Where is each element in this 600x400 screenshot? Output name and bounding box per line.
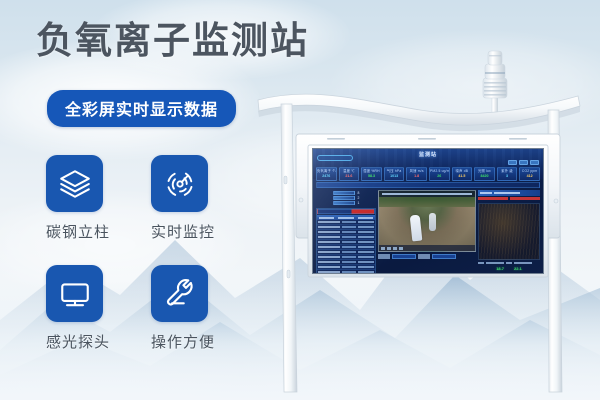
- feature-label: 操作方便: [151, 331, 256, 352]
- mini-stat-label: [333, 196, 355, 200]
- feature-item-0[interactable]: 碳钢立柱: [46, 155, 151, 265]
- wrench-icon: [163, 277, 197, 311]
- kpi-card: PM2.5 ug/m³26: [429, 167, 450, 181]
- cell-value: [358, 226, 374, 228]
- legend-dot: [506, 262, 512, 264]
- cell-time: [318, 266, 340, 268]
- feature-item-3[interactable]: 操作方便: [151, 265, 256, 375]
- table-alert-banner: [317, 209, 375, 214]
- feed-person: [409, 215, 422, 242]
- feed-person: [429, 213, 436, 231]
- feature-label: 感光探头: [46, 331, 151, 352]
- mini-stat: 1: [333, 201, 360, 205]
- cell-time: [318, 226, 340, 228]
- weather-sensor: [483, 51, 507, 113]
- cell-time: [318, 241, 340, 243]
- cell-type: [342, 241, 356, 243]
- feature-tile[interactable]: [46, 265, 103, 322]
- kpi-card: CO2 ppm412: [519, 167, 540, 181]
- feature-item-2[interactable]: 感光探头: [46, 265, 151, 375]
- legend-label: [514, 262, 532, 264]
- feature-tile[interactable]: [151, 155, 208, 212]
- curved-canopy: [258, 94, 580, 131]
- alert-badge: [478, 197, 508, 200]
- alert-badge: [510, 197, 540, 200]
- play-icon[interactable]: [381, 247, 385, 250]
- mini-stat: 8: [333, 191, 360, 195]
- control-select[interactable]: [392, 254, 416, 259]
- cell-value: [358, 256, 374, 258]
- kpi-card: 紫外 级3: [497, 167, 518, 181]
- cell-value: [358, 221, 374, 223]
- cell-type: [342, 246, 356, 248]
- mini-stat-label: [333, 201, 355, 205]
- kpi-value: 21.6: [340, 174, 359, 179]
- banner-stage: 监测站 负氧离子 个/cm³2476温度 ℃21.6湿度 %RH58.3气压 h…: [0, 0, 600, 400]
- cell-value: [358, 261, 374, 263]
- screen-middle-column: [378, 190, 476, 271]
- data-table[interactable]: [316, 208, 376, 274]
- screen-toolbar[interactable]: [316, 182, 540, 188]
- cell-value: [358, 241, 374, 243]
- column-header: [358, 217, 373, 219]
- kpi-value: 1013: [385, 174, 404, 179]
- logo-block: [530, 160, 539, 165]
- mini-stats-group: 821: [316, 190, 376, 205]
- footer-values: 18.722.1: [478, 266, 540, 271]
- kpi-card: 光照 lux8420: [474, 167, 495, 181]
- screen-body: 821: [316, 190, 540, 271]
- kpi-card: 湿度 %RH58.3: [361, 167, 382, 181]
- feed-caption-text: [382, 193, 472, 195]
- feed-controls[interactable]: [379, 245, 475, 251]
- cell-type: [342, 271, 356, 273]
- cell-value: [358, 246, 374, 248]
- feature-tile[interactable]: [151, 265, 208, 322]
- legend-label: [486, 262, 504, 264]
- kpi-card: 噪声 dB41.5: [452, 167, 473, 181]
- cell-time: [318, 246, 340, 248]
- control-label: [418, 254, 430, 259]
- footer-value: 18.7: [496, 266, 504, 271]
- fullscreen-icon[interactable]: [399, 247, 403, 250]
- kpi-value: 412: [520, 174, 539, 179]
- cell-value: [358, 271, 374, 273]
- terrain-map[interactable]: [478, 203, 540, 260]
- middle-control-bar[interactable]: [378, 253, 476, 260]
- control-label: [378, 254, 390, 259]
- screen-breadcrumb-tag: [317, 155, 353, 161]
- display-screen[interactable]: 监测站 负氧离子 个/cm³2476温度 ℃21.6湿度 %RH58.3气压 h…: [312, 148, 544, 274]
- header-label: [494, 192, 520, 194]
- pause-icon[interactable]: [387, 247, 391, 250]
- cell-type: [342, 236, 356, 238]
- kpi-value: 2476: [317, 174, 336, 179]
- mini-stat-value: 8: [358, 191, 360, 195]
- cell-type: [342, 251, 356, 253]
- cell-time: [318, 236, 340, 238]
- cell-type: [342, 231, 356, 233]
- cell-time: [318, 261, 340, 263]
- layers-icon: [58, 167, 92, 201]
- feature-tile[interactable]: [46, 155, 103, 212]
- feature-item-1[interactable]: 实时监控: [151, 155, 256, 265]
- header-label: [480, 192, 492, 194]
- cell-type: [342, 256, 356, 258]
- kpi-value: 41.5: [453, 174, 472, 179]
- kpi-value: 26: [430, 174, 449, 179]
- logo-block: [519, 160, 528, 165]
- cell-time: [318, 251, 340, 253]
- kpi-value: 58.3: [362, 174, 381, 179]
- mini-stat-value: 2: [358, 196, 360, 200]
- cell-type: [342, 221, 356, 223]
- mini-stat: 2: [333, 196, 360, 200]
- legend-dot: [478, 262, 484, 264]
- cell-value: [358, 231, 374, 233]
- right-panel-footer: 18.722.1: [478, 261, 540, 271]
- feature-label: 碳钢立柱: [46, 221, 151, 242]
- cell-value: [358, 251, 374, 253]
- cell-value: [358, 236, 374, 238]
- kpi-value: 8420: [475, 174, 494, 179]
- kpi-card: 气压 hPa1013: [384, 167, 405, 181]
- feature-label: 实时监控: [151, 221, 256, 242]
- footer-value: 22.1: [514, 266, 522, 271]
- cell-time: [318, 256, 340, 258]
- monitor-icon: [58, 277, 92, 311]
- screen-left-column: 821: [316, 190, 376, 271]
- camera-feed[interactable]: [378, 190, 476, 252]
- cell-time: [318, 271, 340, 273]
- table-row[interactable]: [317, 270, 375, 274]
- logo-block: [508, 160, 517, 165]
- cell-type: [342, 266, 356, 268]
- kpi-row: 负氧离子 个/cm³2476温度 ℃21.6湿度 %RH58.3气压 hPa10…: [316, 167, 540, 181]
- control-select[interactable]: [432, 254, 456, 259]
- screen-right-column: 18.722.1: [478, 190, 540, 271]
- left-post: [281, 104, 297, 392]
- kpi-card: 风速 m/s1.8: [406, 167, 427, 181]
- mini-stat-value: 1: [358, 201, 360, 205]
- alert-row[interactable]: [478, 197, 540, 202]
- snapshot-icon[interactable]: [393, 247, 397, 250]
- cell-type: [342, 261, 356, 263]
- column-header: [319, 217, 334, 219]
- column-header: [338, 217, 353, 219]
- kpi-card: 负氧离子 个/cm³2476: [316, 167, 337, 181]
- right-panel-header: [478, 190, 540, 196]
- kpi-card: 温度 ℃21.6: [339, 167, 360, 181]
- mini-stat-label: [333, 191, 355, 195]
- subtitle-badge: 全彩屏实时显示数据: [47, 90, 236, 127]
- cell-time: [318, 221, 340, 223]
- screen-logo-group: [508, 160, 539, 165]
- kpi-value: 3: [498, 174, 517, 179]
- footer-legend: [478, 261, 540, 265]
- page-title: 负氧离子监测站: [36, 22, 309, 61]
- cell-time: [318, 231, 340, 233]
- feed-caption-bar: [379, 191, 475, 197]
- kpi-value: 1.8: [407, 174, 426, 179]
- cell-type: [342, 226, 356, 228]
- feature-grid: 碳钢立柱 实时监控: [46, 155, 246, 375]
- radar-icon: [163, 167, 197, 201]
- cell-value: [358, 266, 374, 268]
